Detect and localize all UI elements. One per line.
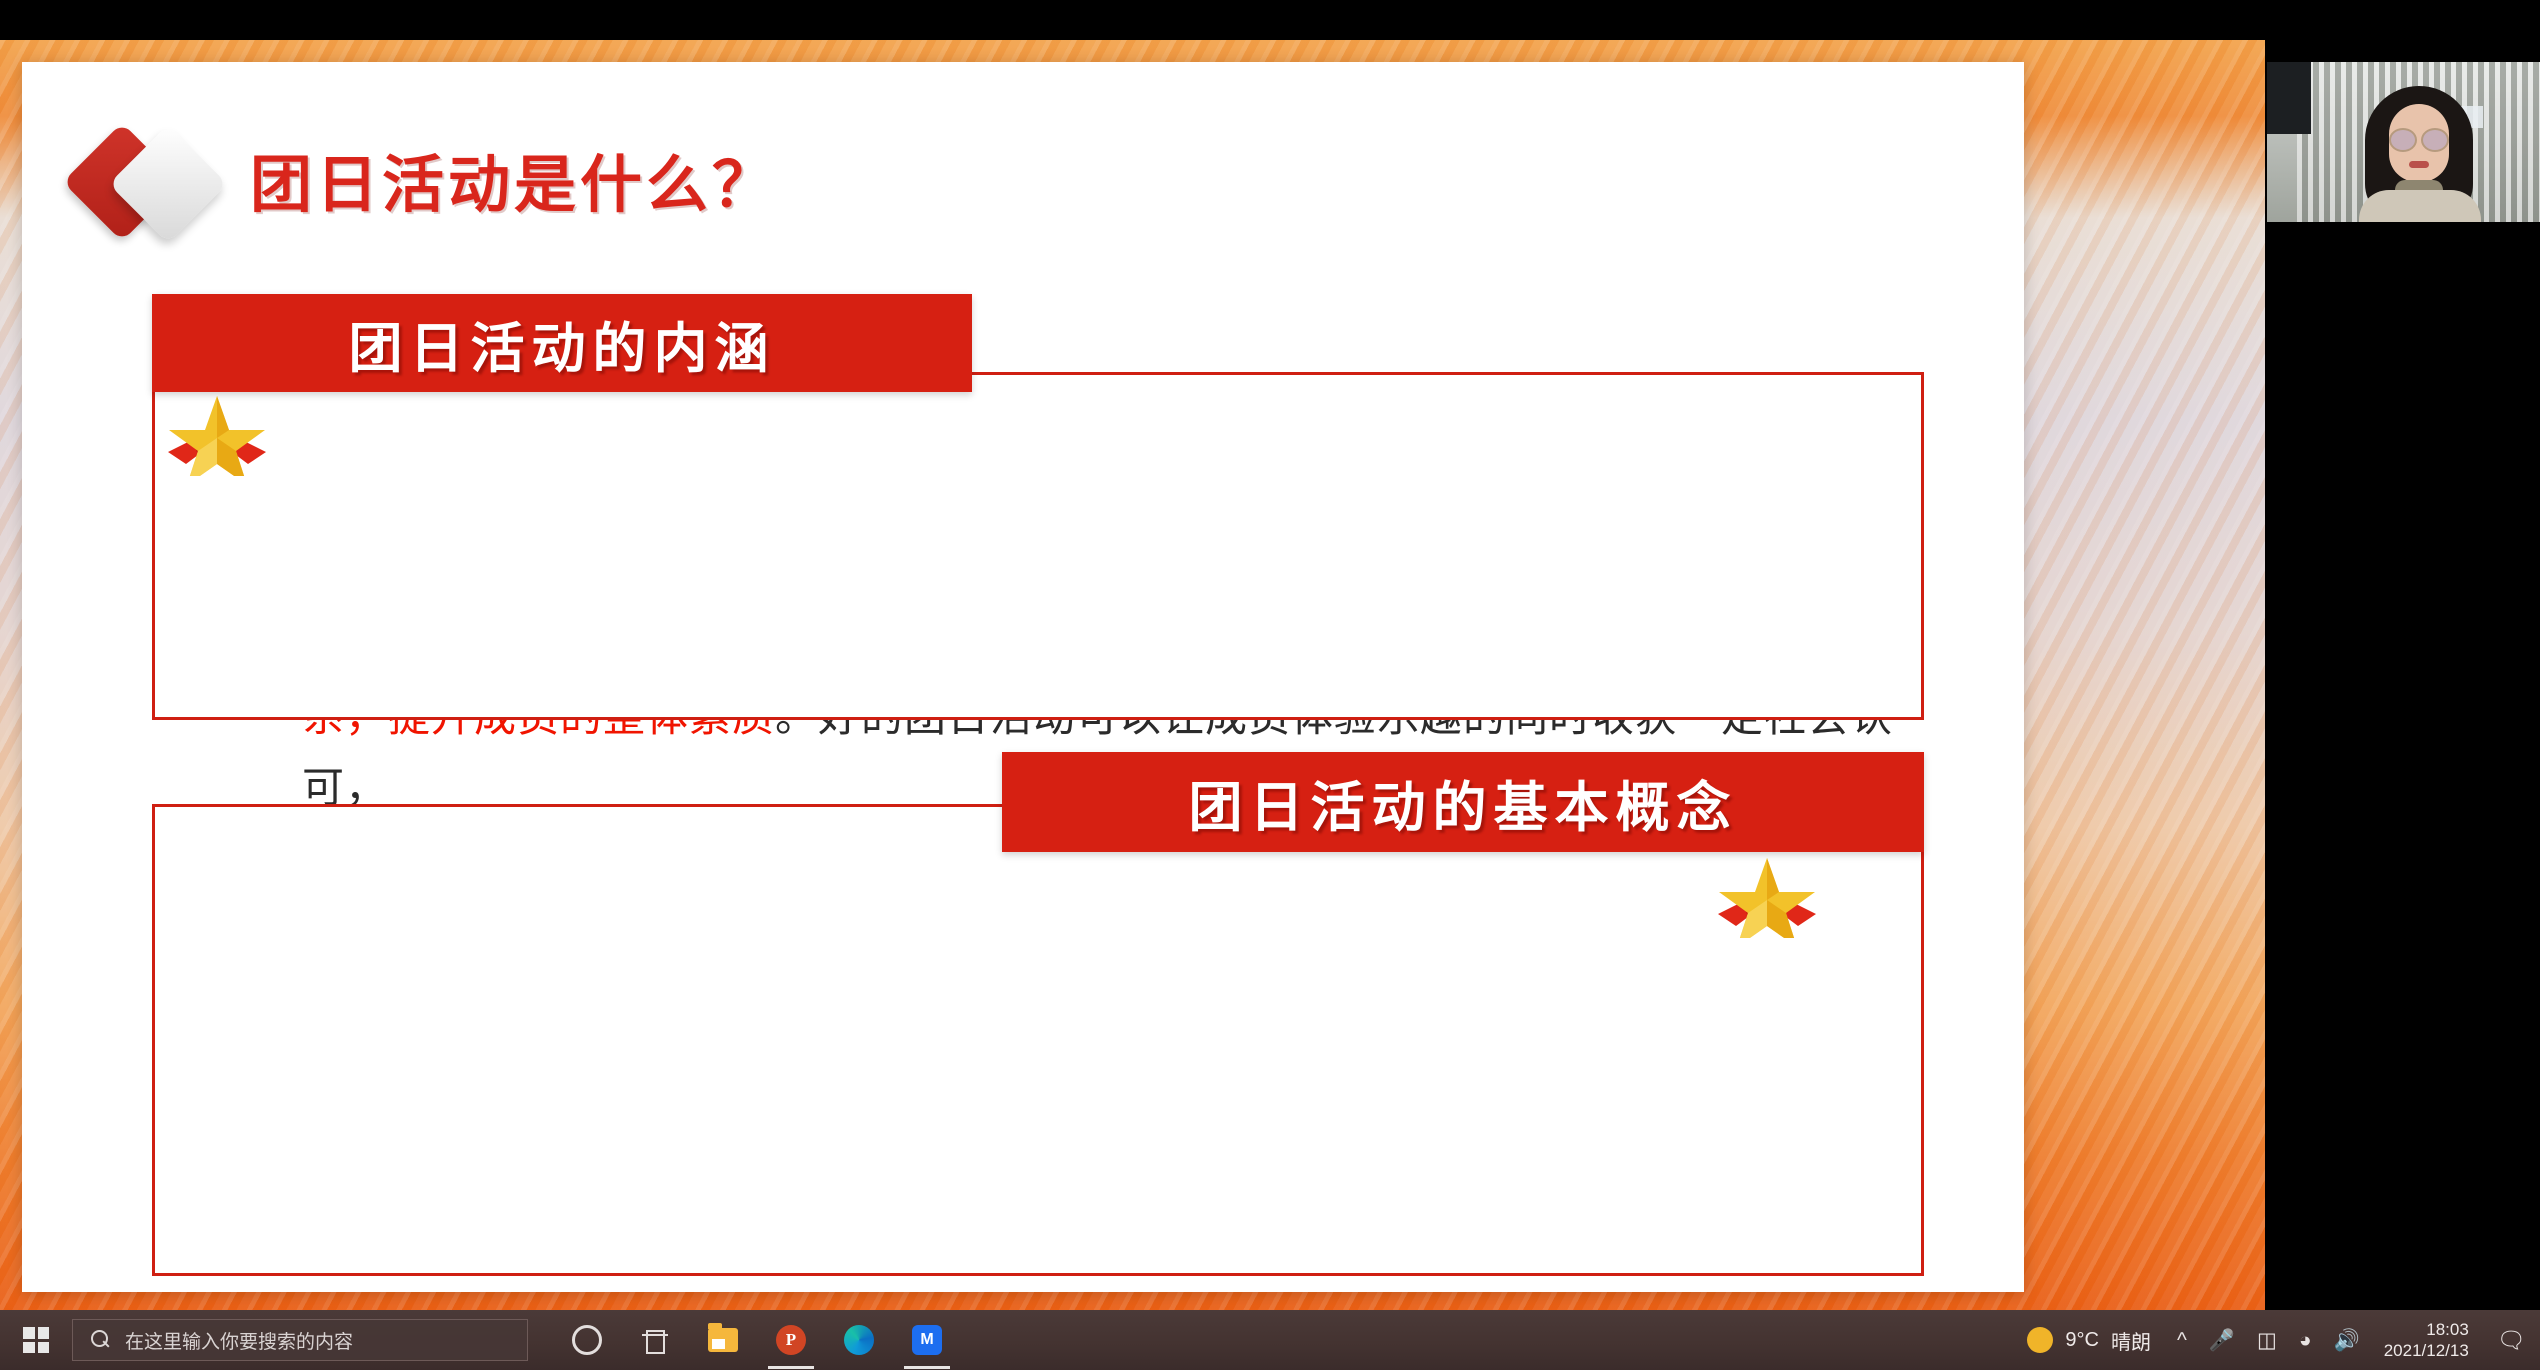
- microphone-icon[interactable]: 🎤: [2209, 1330, 2235, 1351]
- clock-widget[interactable]: 18:03 2021/12/13: [2384, 1319, 2469, 1361]
- screen: 团日活动是什么？ 团日活动的内涵: [0, 0, 2540, 1370]
- page-title: 团日活动是什么？: [250, 134, 778, 224]
- chevron-up-icon[interactable]: ^: [2177, 1330, 2187, 1351]
- gold-star-emblem-icon: [162, 390, 272, 476]
- taskbar-app-icons: P M: [556, 1311, 958, 1369]
- section-1-textbox: [152, 372, 1924, 720]
- task-view-icon[interactable]: [624, 1311, 686, 1369]
- sun-icon: [2027, 1327, 2053, 1353]
- cortana-icon[interactable]: [556, 1311, 618, 1369]
- battery-icon[interactable]: ◫: [2257, 1330, 2277, 1351]
- webcam-person-lips: [2409, 161, 2429, 168]
- windows-start-icon[interactable]: [0, 1310, 72, 1370]
- microsoft-edge-icon[interactable]: [828, 1311, 890, 1369]
- windows-taskbar: 在这里输入你要搜索的内容 P M 9: [0, 1310, 2540, 1370]
- section-1-band: 团日活动的内涵: [152, 294, 972, 392]
- section-1-band-label: 团日活动的内涵: [349, 304, 776, 383]
- notification-icon[interactable]: 🗨: [2497, 1327, 2526, 1354]
- search-placeholder: 在这里输入你要搜索的内容: [125, 1327, 353, 1354]
- wifi-icon[interactable]: ◕: [2299, 1330, 2312, 1351]
- tray-icons: ^ 🎤 ◫ ◕ 🔊: [2177, 1330, 2360, 1351]
- volume-icon[interactable]: 🔊: [2334, 1330, 2360, 1351]
- powerpoint-icon[interactable]: P: [760, 1311, 822, 1369]
- webcam-participant-video[interactable]: [2267, 62, 2540, 222]
- meeting-app-icon[interactable]: M: [896, 1311, 958, 1369]
- taskbar-system-tray: 9°C 晴朗 ^ 🎤 ◫ ◕ 🔊 18:03 2021/12/13 🗨: [2027, 1319, 2540, 1361]
- presentation-stage: 团日活动是什么？ 团日活动的内涵: [0, 40, 2265, 1310]
- webcam-dark-corner: [2267, 62, 2311, 134]
- webcam-person-body: [2359, 190, 2481, 222]
- section-2-textbox: [152, 804, 1924, 1276]
- search-input[interactable]: 在这里输入你要搜索的内容: [72, 1319, 528, 1361]
- clock-time: 18:03: [2384, 1319, 2469, 1340]
- weather-description: 晴朗: [2111, 1326, 2151, 1355]
- weather-temperature: 9°C: [2065, 1329, 2099, 1352]
- section-2-band: 团日活动的基本概念: [1002, 752, 1924, 852]
- slide-canvas: 团日活动是什么？ 团日活动的内涵: [22, 62, 2024, 1292]
- search-icon: [89, 1329, 111, 1351]
- section-2-band-label: 团日活动的基本概念: [1189, 763, 1738, 842]
- slide-title-row: 团日活动是什么？: [22, 124, 2024, 244]
- diamond-logo-icon: [74, 132, 224, 232]
- clock-date: 2021/12/13: [2384, 1340, 2469, 1361]
- file-explorer-icon[interactable]: [692, 1311, 754, 1369]
- webcam-person-glasses-icon: [2387, 128, 2451, 148]
- weather-widget[interactable]: 9°C 晴朗: [2027, 1326, 2151, 1355]
- gold-star-emblem-icon: [1712, 852, 1822, 938]
